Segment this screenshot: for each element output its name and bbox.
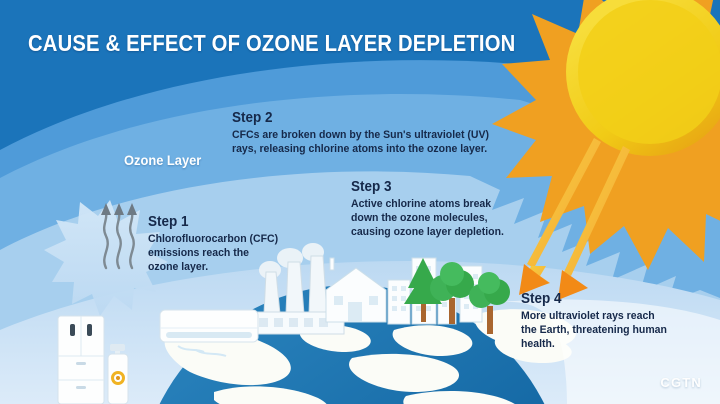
refrigerator-icon [58, 316, 104, 404]
step-4-block: Step 4 More ultraviolet rays reach the E… [521, 291, 674, 352]
step-2-heading: Step 2 [232, 110, 474, 126]
step-4-heading: Step 4 [521, 291, 659, 307]
step-2-body: CFCs are broken down by the Sun's ultrav… [232, 128, 489, 157]
step-1-block: Step 1 Chlorofluorocarbon (CFC) emission… [148, 214, 284, 275]
step-3-body: Active chlorine atoms break down the ozo… [351, 197, 504, 240]
cfc-emission-arrowheads [101, 203, 137, 215]
step-3-heading: Step 3 [351, 179, 495, 195]
step-1-heading: Step 1 [148, 214, 271, 230]
ozone-layer-label: Ozone Layer [124, 152, 201, 168]
infographic-canvas: CAUSE & EFFECT OF OZONE LAYER DEPLETION … [0, 0, 720, 404]
step-1-body: Chlorofluorocarbon (CFC) emissions reach… [148, 232, 278, 275]
sun-disc-inner [578, 0, 720, 144]
step-2-block: Step 2 CFCs are broken down by the Sun's… [232, 110, 501, 156]
page-title: CAUSE & EFFECT OF OZONE LAYER DEPLETION [28, 30, 515, 57]
step-3-block: Step 3 Active chlorine atoms break down … [351, 179, 511, 240]
cgtn-watermark: CGTN [660, 375, 702, 390]
step-4-body: More ultraviolet rays reach the Earth, t… [521, 309, 667, 352]
